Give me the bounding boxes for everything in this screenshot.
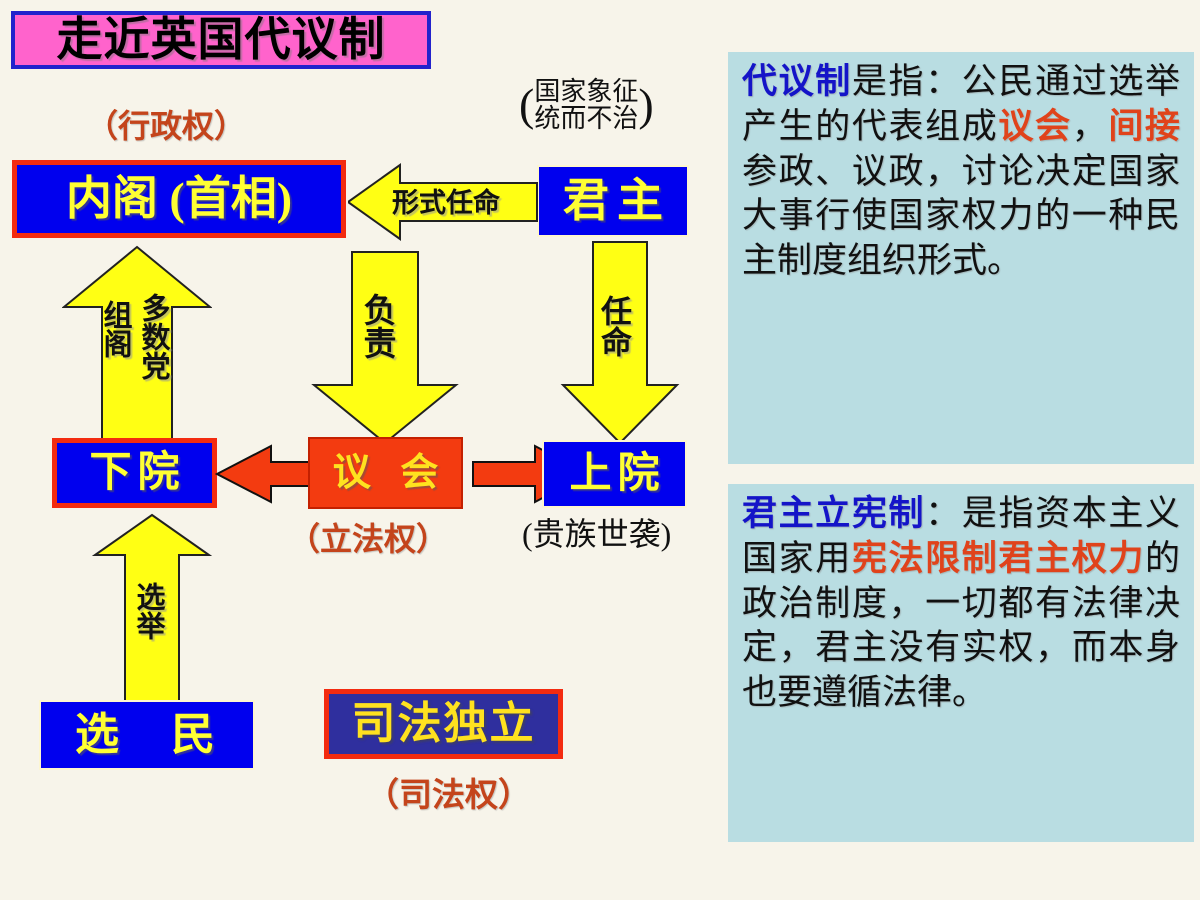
panel-representative-system: 代议制是指：公民通过选举产生的代表组成议会，间接参政、议政，讨论决定国家大事行使… xyxy=(728,52,1194,464)
monarch-caption: ( 国家象征 统而不治 ) xyxy=(519,78,654,133)
parliament-caption: （立法权） xyxy=(288,523,448,557)
formal-appointment-label: 形式任命 xyxy=(392,190,500,217)
judiciary-caption: （司法权） xyxy=(366,779,531,814)
panel-text-segment: 参政、议政，讨论决定国家大事行使国家权力的一种民主制度组织形式。 xyxy=(742,152,1180,281)
paren-right: ) xyxy=(638,87,653,124)
majority-party-label: 多数党 xyxy=(138,293,167,380)
panel-text-segment: 宪法限制君主权力 xyxy=(852,539,1145,578)
page-title: 走近英国代议制 xyxy=(57,17,386,63)
node-upper-house[interactable]: 上院 xyxy=(542,440,687,508)
panel-text-segment: 议会 xyxy=(998,107,1071,146)
node-parliament[interactable]: 议 会 xyxy=(308,437,463,509)
slide-canvas: 走近英国代议制 （行政权） ( 国家象征 统而不治 ) 内阁 (首相) 君主 形… xyxy=(0,0,1200,900)
responsible-label: 负责 xyxy=(359,293,392,359)
node-cabinet[interactable]: 内阁 (首相) xyxy=(12,160,346,238)
panel-representative-system-text: 代议制是指：公民通过选举产生的代表组成议会，间接参政、议政，讨论决定国家大事行使… xyxy=(742,60,1180,284)
monarch-caption-line2: 统而不治 xyxy=(534,105,638,132)
paren-left: ( xyxy=(519,87,534,124)
form-cabinet-label: 组阁 xyxy=(100,300,129,358)
node-lower-house[interactable]: 下院 xyxy=(52,438,217,508)
panel-text-segment: 君主立宪制 xyxy=(742,494,925,533)
monarch-caption-line1: 国家象征 xyxy=(534,78,638,105)
panel-text-segment: ， xyxy=(1072,107,1109,146)
node-judiciary[interactable]: 司法独立 xyxy=(324,689,563,759)
panel-text-segment: 间接 xyxy=(1108,107,1180,146)
panel-constitutional-monarchy: 君主立宪制：是指资本主义国家用宪法限制君主权力的政治制度，一切都有法律决定，君主… xyxy=(728,484,1194,842)
panel-constitutional-monarchy-text: 君主立宪制：是指资本主义国家用宪法限制君主权力的政治制度，一切都有法律决定，君主… xyxy=(742,492,1180,716)
cabinet-caption: （行政权） xyxy=(86,110,246,144)
slide-title-box: 走近英国代议制 xyxy=(11,11,431,69)
panel-text-segment: 代议制 xyxy=(742,62,852,101)
node-monarch[interactable]: 君主 xyxy=(537,165,689,237)
election-label: 选举 xyxy=(133,582,162,640)
node-voters[interactable]: 选 民 xyxy=(39,700,255,770)
upper-house-caption: (贵族世袭) xyxy=(522,518,671,552)
appoint-label: 任命 xyxy=(598,295,629,357)
